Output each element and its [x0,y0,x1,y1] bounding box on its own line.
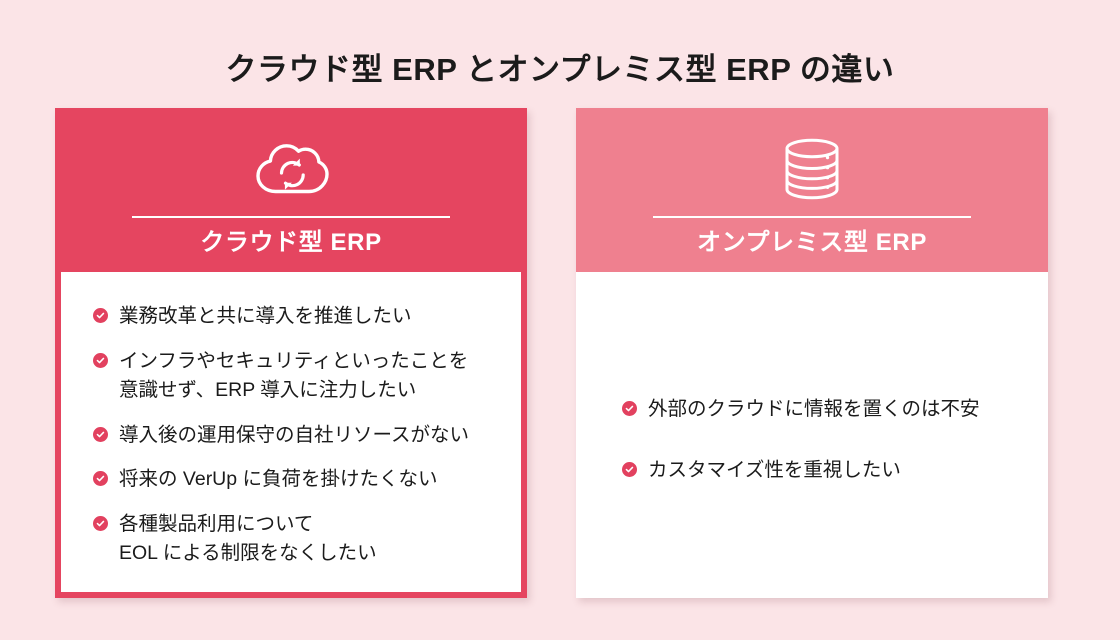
list-item-label: 導入後の運用保守の自社リソースがない [119,421,469,450]
card-header-cloud: クラウド型 ERP [55,108,527,272]
list-item: 将来の VerUp に負荷を掛けたくない [93,465,503,494]
card-label-cloud: クラウド型 ERP [200,229,381,258]
check-circle-icon [93,353,108,368]
header-divider [653,216,971,218]
card-cloud-erp: クラウド型 ERP 業務改革と共に導入を推進したい [55,108,527,598]
database-stack-icon [779,132,845,206]
header-divider [132,216,450,218]
feature-list-cloud: 業務改革と共に導入を推進したい インフラやセキュリティといったことを 意識せず、… [93,302,503,568]
page-title: クラウド型 ERP とオンプレミス型 ERP の違い [0,51,1120,90]
check-circle-icon [622,401,637,416]
check-circle-icon [93,516,108,531]
list-item: カスタマイズ性を重視したい [622,456,1028,485]
cloud-sync-icon [253,132,329,206]
list-item-label: 業務改革と共に導入を推進したい [119,302,412,331]
card-body-cloud: 業務改革と共に導入を推進したい インフラやセキュリティといったことを 意識せず、… [61,272,521,592]
list-item-label: インフラやセキュリティといったことを 意識せず、ERP 導入に注力したい [119,347,468,405]
check-circle-icon [93,308,108,323]
card-header-onpremise: オンプレミス型 ERP [576,108,1048,272]
list-item: インフラやセキュリティといったことを 意識せず、ERP 導入に注力したい [93,347,503,405]
list-item: 各種製品利用について EOL による制限をなくしたい [93,510,503,568]
check-circle-icon [93,471,108,486]
check-circle-icon [93,427,108,442]
list-item-label: カスタマイズ性を重視したい [648,456,901,485]
card-onpremise-erp: オンプレミス型 ERP 外部のクラウドに情報を置くのは不安 [576,108,1048,598]
slide-canvas: クラウド型 ERP とオンプレミス型 ERP の違い クラウド型 ERP [0,0,1120,640]
card-body-onpremise: 外部のクラウドに情報を置くのは不安 カスタマイズ性を重視したい [576,272,1048,598]
list-item: 業務改革と共に導入を推進したい [93,302,503,331]
list-item-label: 将来の VerUp に負荷を掛けたくない [119,465,438,494]
list-item-label: 外部のクラウドに情報を置くのは不安 [648,395,980,424]
list-item: 導入後の運用保守の自社リソースがない [93,421,503,450]
check-circle-icon [622,462,637,477]
list-item: 外部のクラウドに情報を置くのは不安 [622,395,1028,424]
feature-list-onpremise: 外部のクラウドに情報を置くのは不安 カスタマイズ性を重視したい [622,395,1028,485]
card-label-onpremise: オンプレミス型 ERP [697,229,927,258]
list-item-label: 各種製品利用について EOL による制限をなくしたい [119,510,377,568]
